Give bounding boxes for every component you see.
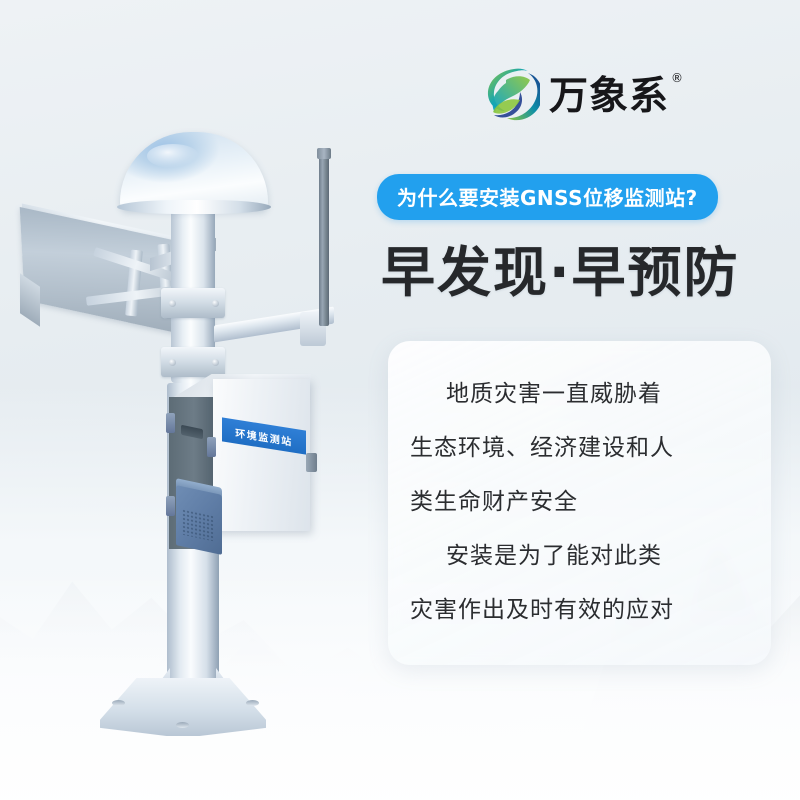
question-banner-text: 为什么要安装GNSS位移监测站? <box>397 186 698 210</box>
cabinet-label-text: 环境监测站 <box>235 424 293 448</box>
whip-antenna-tip <box>317 148 331 159</box>
page-headline: 早发现·早预防 <box>381 228 740 307</box>
clamp-bolt-icon <box>169 300 176 307</box>
globe-swirl-logo-icon <box>484 66 540 126</box>
cabinet-latch-icon <box>306 453 317 472</box>
brand-logo: 万象系 ® <box>484 66 669 126</box>
base-bolt-hole-icon <box>246 700 259 706</box>
gnss-monitoring-station-illustration: 环境监测站 <box>0 0 400 800</box>
description-line: 灾害作出及时有效的应对 <box>388 583 771 637</box>
dome-rim <box>117 200 271 214</box>
cabinet-hinge-icon <box>207 437 216 457</box>
clamp-bolt-icon <box>212 300 219 307</box>
description-line: 生态环境、经济建设和人 <box>388 421 771 475</box>
gnss-dome-antenna-icon <box>120 132 268 210</box>
description-card: 地质灾害一直威胁着 生态环境、经济建设和人 类生命财产安全 安装是为了能对此类 … <box>388 341 771 665</box>
dome-highlight <box>147 144 199 168</box>
description-lines: 地质灾害一直威胁着 生态环境、经济建设和人 类生命财产安全 安装是为了能对此类 … <box>388 367 771 637</box>
clamp-bolt-icon <box>212 359 219 366</box>
cabinet-hinge-icon <box>166 496 175 516</box>
question-banner: 为什么要安装GNSS位移监测站? <box>377 174 718 220</box>
brand-name-text: 万象系 ® <box>549 77 669 116</box>
base-bolt-hole-icon <box>176 722 189 728</box>
cabinet-hinge-icon <box>166 413 175 433</box>
brand-name: 万象系 <box>549 74 669 119</box>
base-bolt-hole-icon <box>112 700 125 706</box>
description-line: 类生命财产安全 <box>388 475 771 529</box>
clamp-bolt-icon <box>169 359 176 366</box>
registered-trademark-icon: ® <box>671 72 684 84</box>
description-line: 地质灾害一直威胁着 <box>388 367 771 421</box>
description-line: 安装是为了能对此类 <box>388 529 771 583</box>
cabinet-front-door <box>213 379 310 531</box>
poster-canvas: 环境监测站 <box>0 0 800 800</box>
whip-antenna-icon <box>319 152 329 326</box>
